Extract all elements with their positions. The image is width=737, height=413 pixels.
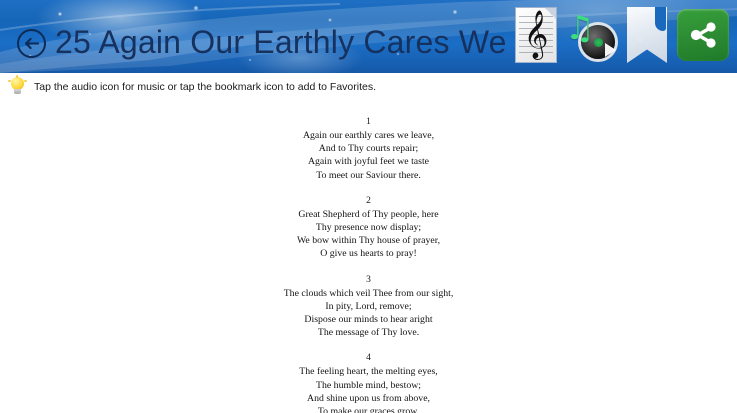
bookmark-icon[interactable] [625,7,669,63]
sheet-music-icon[interactable]: 𝄞 [515,7,557,63]
audio-play-icon[interactable]: ♫ [565,9,617,61]
bookmark-notch [655,7,666,31]
verse-block: 2 Great Shepherd of Thy people, here Thy… [0,194,737,261]
verse-line: Dispose our minds to hear aright [0,313,737,326]
verse-line: To make our graces grow. [0,405,737,413]
verse-line: Thy presence now display; [0,221,737,234]
verse-line: And shine upon us from above, [0,392,737,405]
verse-line: The message of Thy love. [0,326,737,339]
verse-line: O give us hearts to pray! [0,247,737,260]
treble-clef-glyph: 𝄞 [524,13,549,55]
verse-line: We bow within Thy house of prayer, [0,234,737,247]
back-arrow-icon [23,35,40,52]
bulb-ray [8,80,11,82]
header-action-bar: 𝄞 ♫ [515,4,729,66]
app-header: 25 Again Our Earthly Cares We Leave 𝄞 ♫ [0,0,737,73]
verse-line: In pity, Lord, remove; [0,300,737,313]
verse-number: 3 [0,273,737,287]
verse-line: The humble mind, bestow; [0,379,737,392]
verse-number: 1 [0,115,737,129]
share-icon[interactable] [677,9,729,61]
verse-number: 2 [0,194,737,208]
share-nodes-glyph [687,19,719,51]
verse-line: The feeling heart, the melting eyes, [0,365,737,378]
verse-line: And to Thy courts repair; [0,142,737,155]
play-triangle [605,43,616,57]
hint-bar: Tap the audio icon for music or tap the … [0,73,737,101]
hint-text: Tap the audio icon for music or tap the … [34,81,376,93]
verse-block: 4 The feeling heart, the melting eyes, T… [0,351,737,413]
page-fold-corner [545,8,556,19]
lightbulb-icon [8,76,27,98]
bulb-base [14,89,21,94]
verse-block: 3 The clouds which veil Thee from our si… [0,273,737,340]
verse-line: To meet our Saviour there. [0,169,737,182]
lyrics-container: 1 Again our earthly cares we leave, And … [0,101,737,413]
back-button[interactable] [17,29,46,58]
page-title: 25 Again Our Earthly Cares We Leave [55,17,525,67]
verse-line: Again our earthly cares we leave, [0,129,737,142]
verse-number: 4 [0,351,737,365]
music-notes-glyph: ♫ [565,11,595,44]
bulb-ray [24,80,27,82]
verse-line: The clouds which veil Thee from our sigh… [0,287,737,300]
verse-line: Again with joyful feet we taste [0,155,737,168]
verse-line: Great Shepherd of Thy people, here [0,208,737,221]
verse-block: 1 Again our earthly cares we leave, And … [0,115,737,182]
bulb-ray [16,75,18,78]
